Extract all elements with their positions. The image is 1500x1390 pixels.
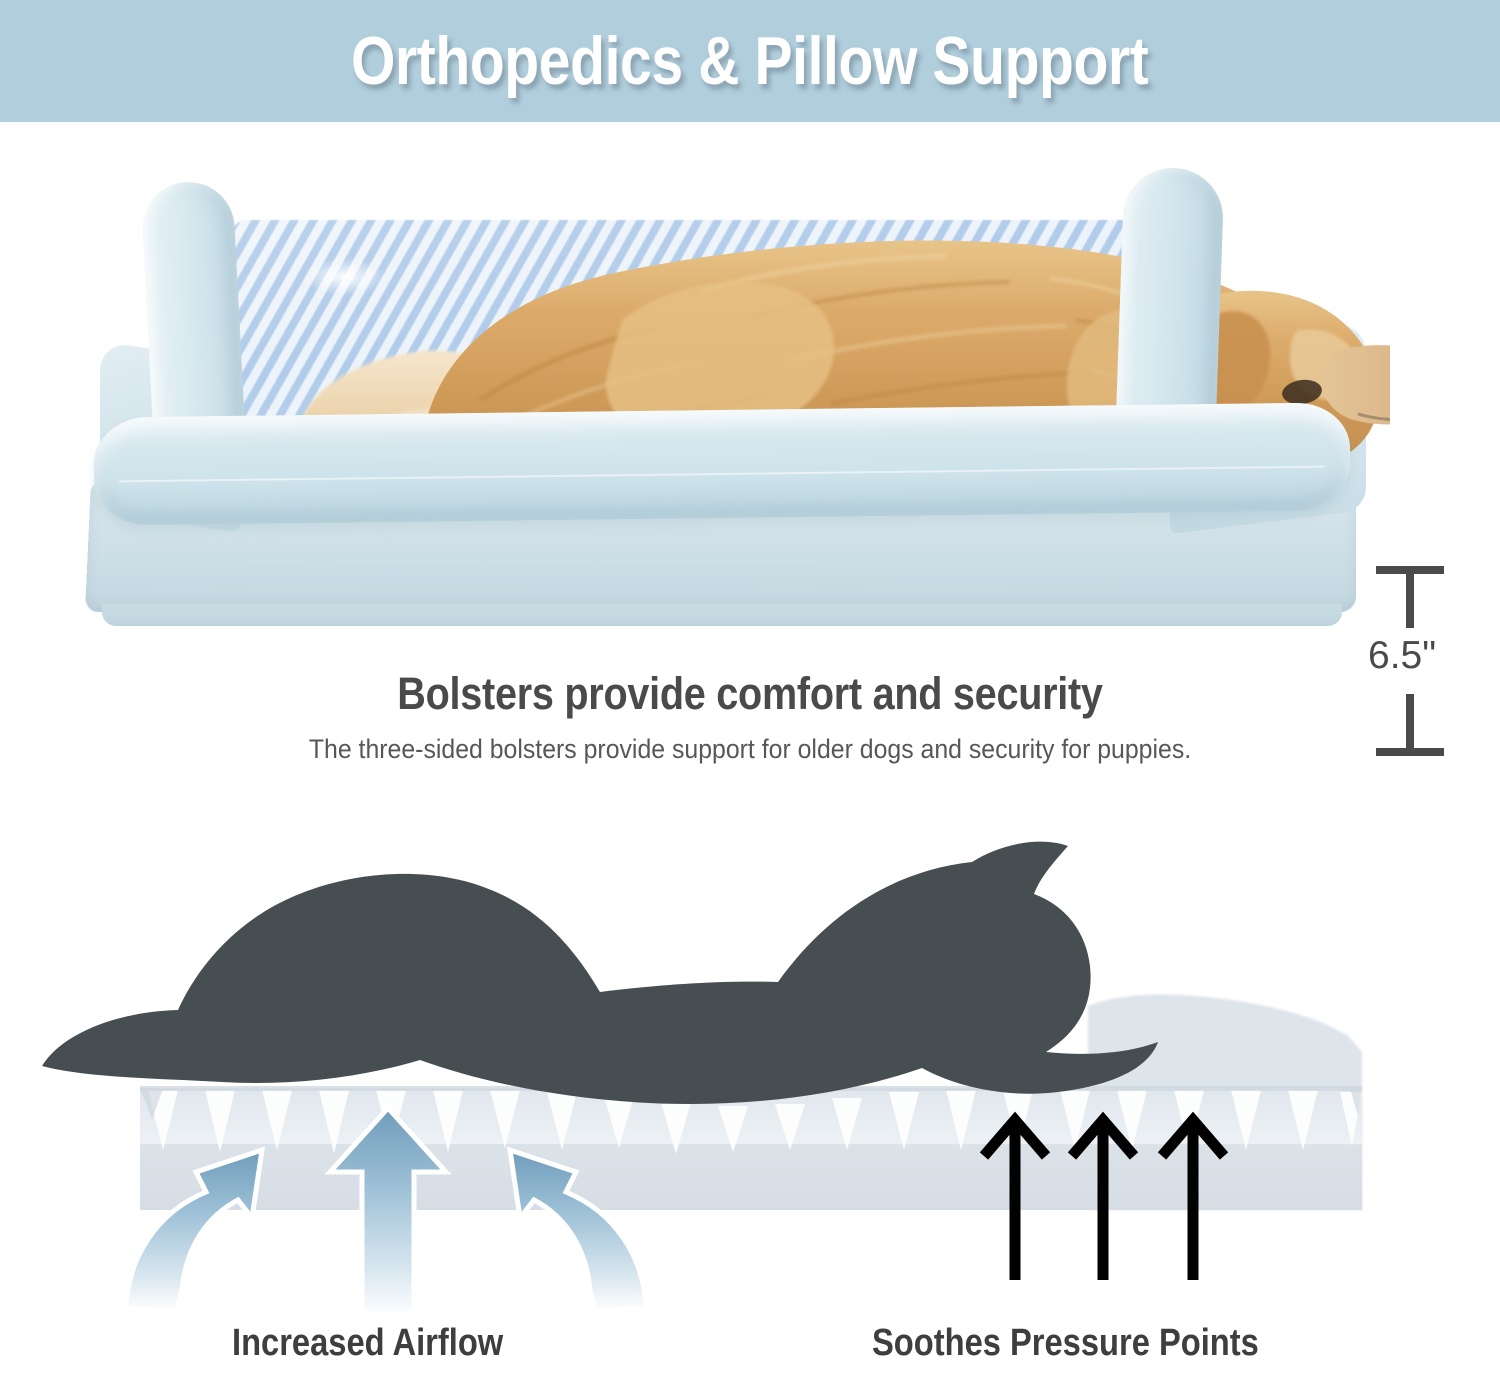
feature-label-increased-airflow: Increased Airflow: [232, 1322, 503, 1365]
feature-labels-row: Increased Airflow Soothes Pressure Point…: [0, 1322, 1500, 1382]
pressure-arrows: [984, 1118, 1224, 1280]
bed-foot-lip: [102, 604, 1342, 626]
foam-airflow-diagram: [0, 820, 1500, 1330]
dog-bed-illustration: [80, 152, 1370, 652]
feature-label-soothes-pressure-points: Soothes Pressure Points: [872, 1322, 1259, 1365]
product-photo-panel: 6.5": [0, 122, 1500, 662]
caption-subtitle: The three-sided bolsters provide support…: [60, 734, 1440, 765]
bed-right-bolster: [1115, 166, 1224, 437]
page-title: Orthopedics & Pillow Support: [351, 22, 1148, 100]
dog-silhouette-shape: [42, 842, 1158, 1104]
header-banner: Orthopedics & Pillow Support: [0, 0, 1500, 122]
caption-title: Bolsters provide comfort and security: [90, 668, 1410, 720]
caption-block: Bolsters provide comfort and security Th…: [0, 668, 1500, 765]
diagram-svg: [0, 820, 1500, 1330]
bed-front-bolster: [94, 402, 1350, 525]
